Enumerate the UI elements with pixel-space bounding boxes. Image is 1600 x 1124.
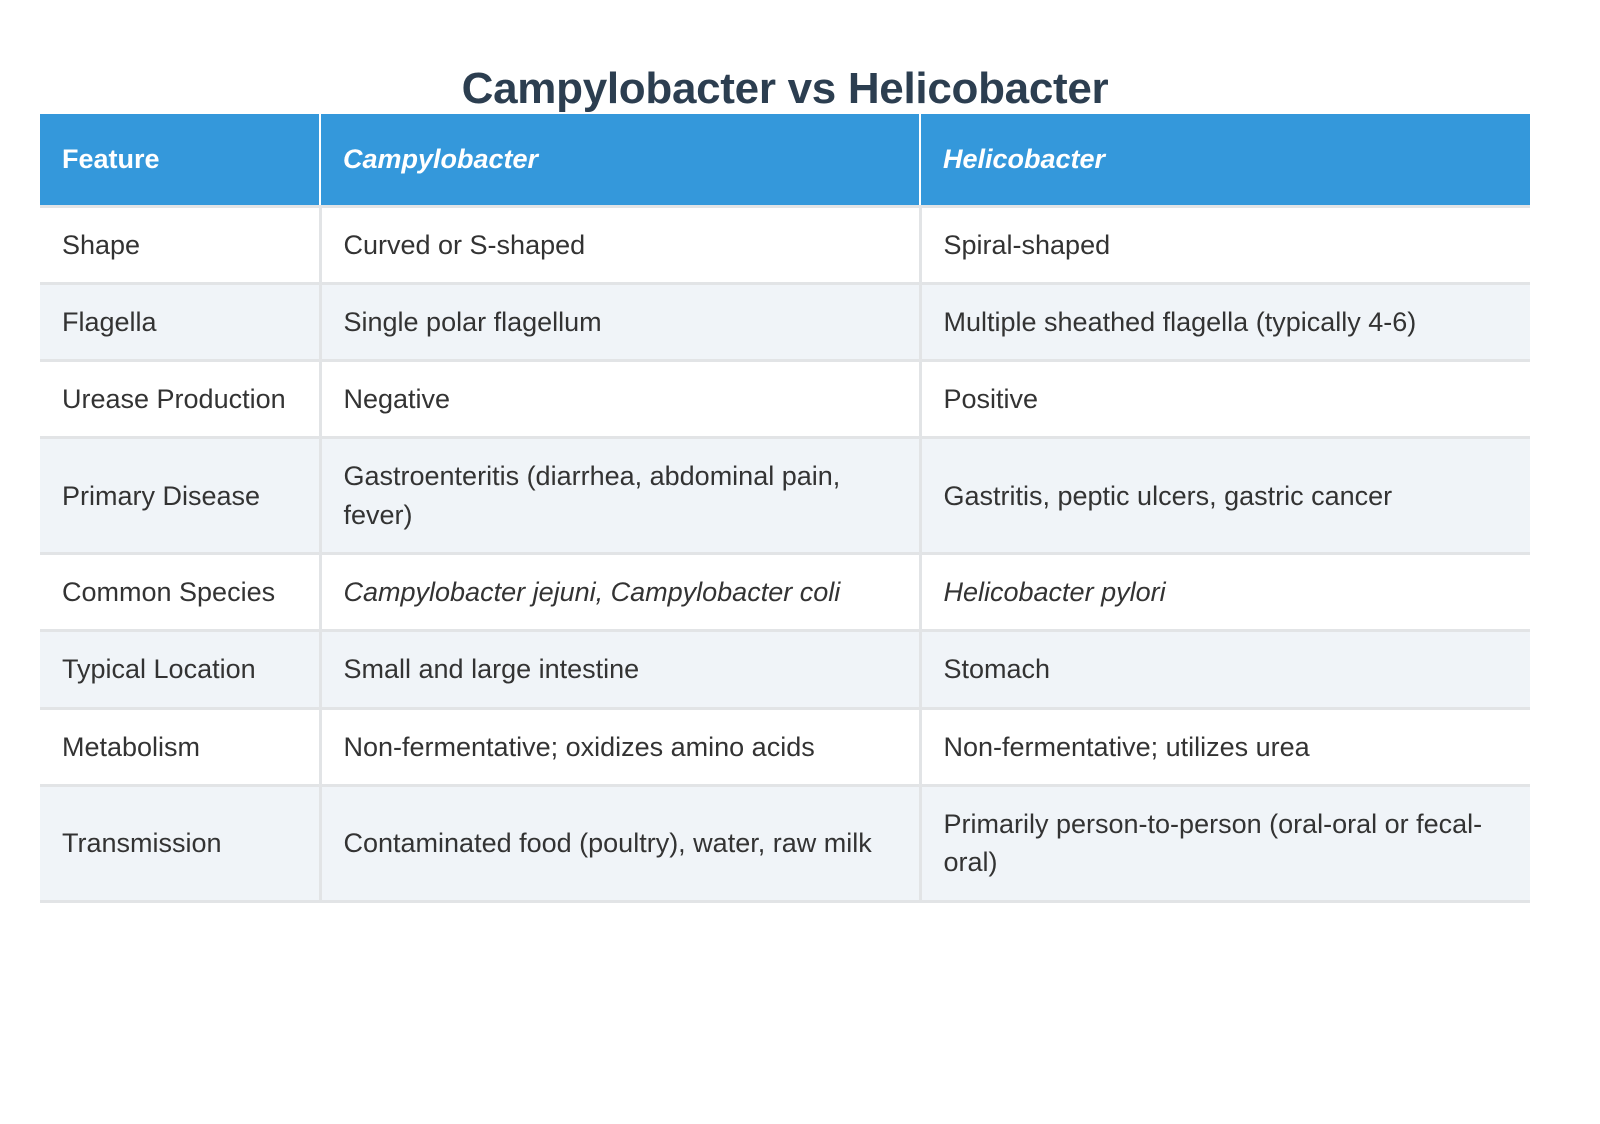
table-row: Urease ProductionNegativePositive (40, 361, 1530, 438)
cell-feature: Typical Location (40, 631, 320, 708)
cell-helicobacter: Positive (920, 361, 1530, 438)
table-header: Feature Campylobacter Helicobacter (40, 114, 1530, 206)
cell-campylobacter: Contaminated food (poultry), water, raw … (320, 786, 920, 902)
cell-feature: Urease Production (40, 361, 320, 438)
cell-feature: Flagella (40, 283, 320, 360)
table-row: Primary DiseaseGastroenteritis (diarrhea… (40, 438, 1530, 554)
cell-campylobacter: Negative (320, 361, 920, 438)
table-row: Typical LocationSmall and large intestin… (40, 631, 1530, 708)
cell-helicobacter: Multiple sheathed flagella (typically 4-… (920, 283, 1530, 360)
cell-campylobacter: Gastroenteritis (diarrhea, abdominal pai… (320, 438, 920, 554)
cell-campylobacter: Campylobacter jejuni, Campylobacter coli (320, 554, 920, 631)
cell-feature: Shape (40, 206, 320, 283)
table-row: TransmissionContaminated food (poultry),… (40, 786, 1530, 902)
column-header-feature: Feature (40, 114, 320, 206)
cell-campylobacter: Non-fermentative; oxidizes amino acids (320, 708, 920, 785)
cell-campylobacter: Small and large intestine (320, 631, 920, 708)
page-title: Campylobacter vs Helicobacter (0, 65, 1570, 113)
cell-campylobacter: Curved or S-shaped (320, 206, 920, 283)
comparison-table-container: Feature Campylobacter Helicobacter Shape… (40, 114, 1530, 903)
table-row: ShapeCurved or S-shapedSpiral-shaped (40, 206, 1530, 283)
cell-helicobacter: Helicobacter pylori (920, 554, 1530, 631)
cell-feature: Common Species (40, 554, 320, 631)
table-row: Common SpeciesCampylobacter jejuni, Camp… (40, 554, 1530, 631)
cell-feature: Metabolism (40, 708, 320, 785)
cell-feature: Transmission (40, 786, 320, 902)
table-header-row: Feature Campylobacter Helicobacter (40, 114, 1530, 206)
table-row: MetabolismNon-fermentative; oxidizes ami… (40, 708, 1530, 785)
page-root: Campylobacter vs Helicobacter Feature Ca… (0, 0, 1600, 1124)
cell-helicobacter: Primarily person-to-person (oral-oral or… (920, 786, 1530, 902)
column-header-campylobacter: Campylobacter (320, 114, 920, 206)
cell-campylobacter: Single polar flagellum (320, 283, 920, 360)
table-body: ShapeCurved or S-shapedSpiral-shapedFlag… (40, 206, 1530, 901)
column-header-helicobacter: Helicobacter (920, 114, 1530, 206)
comparison-table: Feature Campylobacter Helicobacter Shape… (40, 114, 1530, 903)
table-row: FlagellaSingle polar flagellumMultiple s… (40, 283, 1530, 360)
cell-helicobacter: Spiral-shaped (920, 206, 1530, 283)
cell-feature: Primary Disease (40, 438, 320, 554)
cell-helicobacter: Gastritis, peptic ulcers, gastric cancer (920, 438, 1530, 554)
cell-helicobacter: Stomach (920, 631, 1530, 708)
cell-helicobacter: Non-fermentative; utilizes urea (920, 708, 1530, 785)
